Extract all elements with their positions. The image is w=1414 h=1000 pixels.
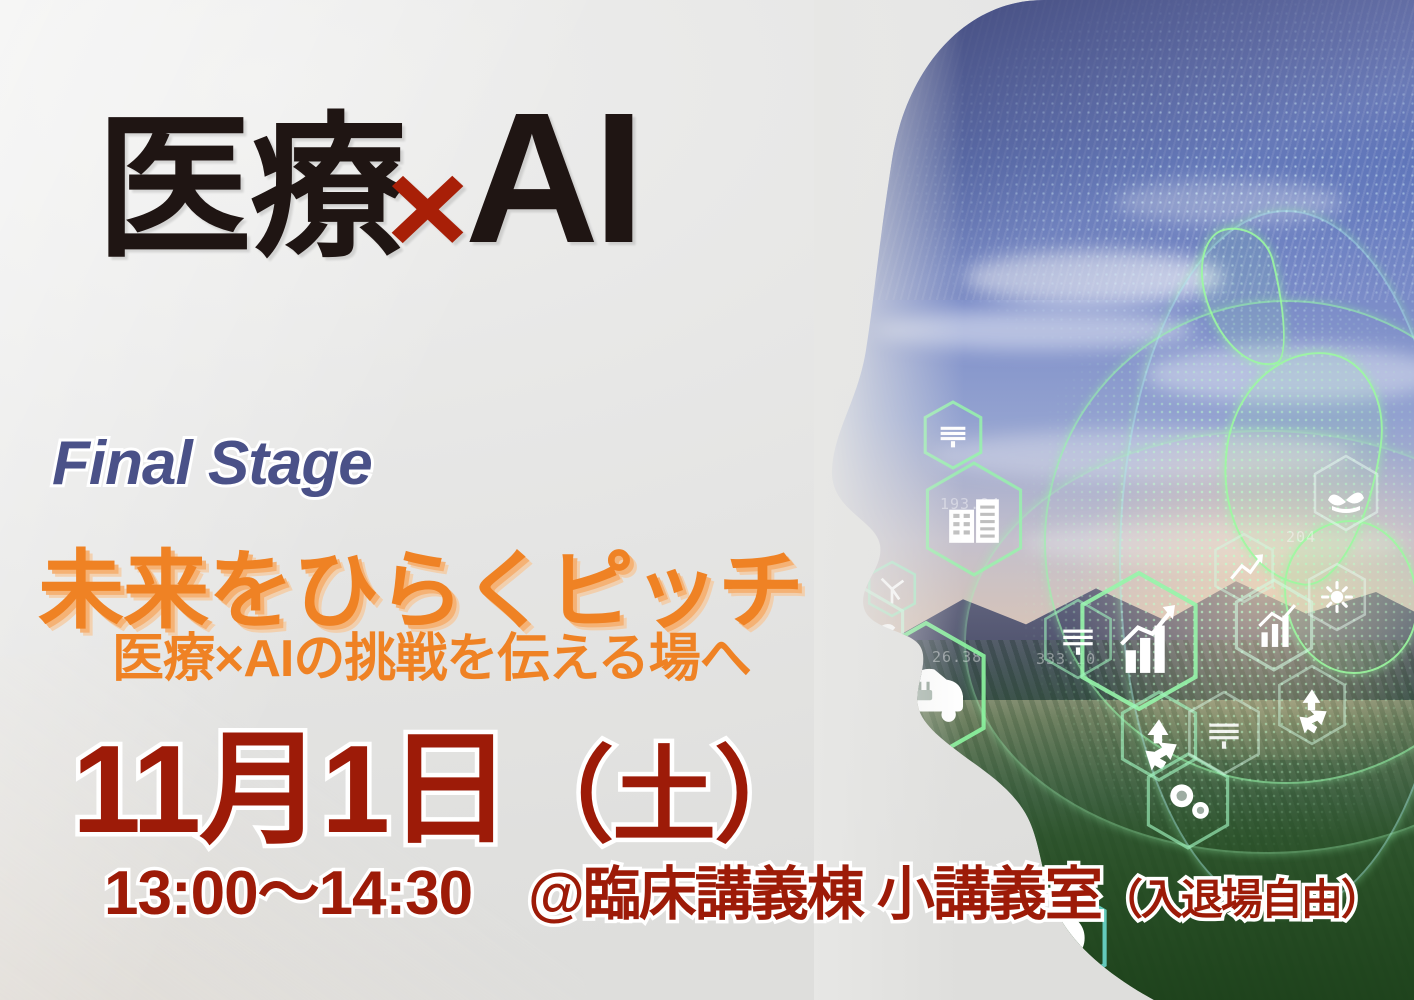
solar-panel-icon bbox=[1042, 598, 1114, 680]
globe-leaf-icon bbox=[814, 582, 908, 694]
event-date-day: 11月1日 bbox=[72, 721, 510, 859]
event-venue: @臨床講義棟 小講義室（入退場自由） bbox=[528, 847, 1381, 931]
event-date: 11月1日（土） bbox=[72, 688, 816, 868]
cross-symbol-icon: × bbox=[386, 142, 467, 276]
event-details: 13:00〜14:30 @臨床講義棟 小講義室（入退場自由） bbox=[104, 842, 1381, 932]
bar-chart-icon bbox=[814, 672, 840, 756]
sun-icon bbox=[814, 700, 892, 808]
office-building-icon bbox=[922, 460, 1026, 578]
brightness-icon bbox=[1306, 562, 1368, 632]
event-date-weekday: （土） bbox=[510, 739, 816, 855]
event-venue-note: （入退場自由） bbox=[1101, 876, 1381, 923]
event-poster: 193.94 536.85 333.10 26.38 204 bbox=[0, 0, 1414, 1000]
final-stage-label: Final Stage bbox=[52, 428, 372, 499]
title-japanese: 医療 bbox=[96, 102, 404, 276]
event-time: 13:00〜14:30 bbox=[104, 842, 472, 932]
event-venue-name: @臨床講義棟 小講義室 bbox=[528, 862, 1101, 927]
growth-chart-icon bbox=[1212, 532, 1276, 604]
event-subheadline: 医療×AIの挑戦を伝える場へ bbox=[112, 616, 751, 691]
page-title: 医療×AI bbox=[96, 86, 639, 272]
recycle-icon bbox=[1276, 664, 1348, 746]
plant-sprout-icon bbox=[1310, 452, 1382, 534]
overlay-number: 536.85 bbox=[862, 715, 922, 733]
solar-panel-icon bbox=[1186, 690, 1262, 776]
title-ai: AI bbox=[465, 75, 639, 282]
electric-car-icon bbox=[862, 620, 990, 764]
